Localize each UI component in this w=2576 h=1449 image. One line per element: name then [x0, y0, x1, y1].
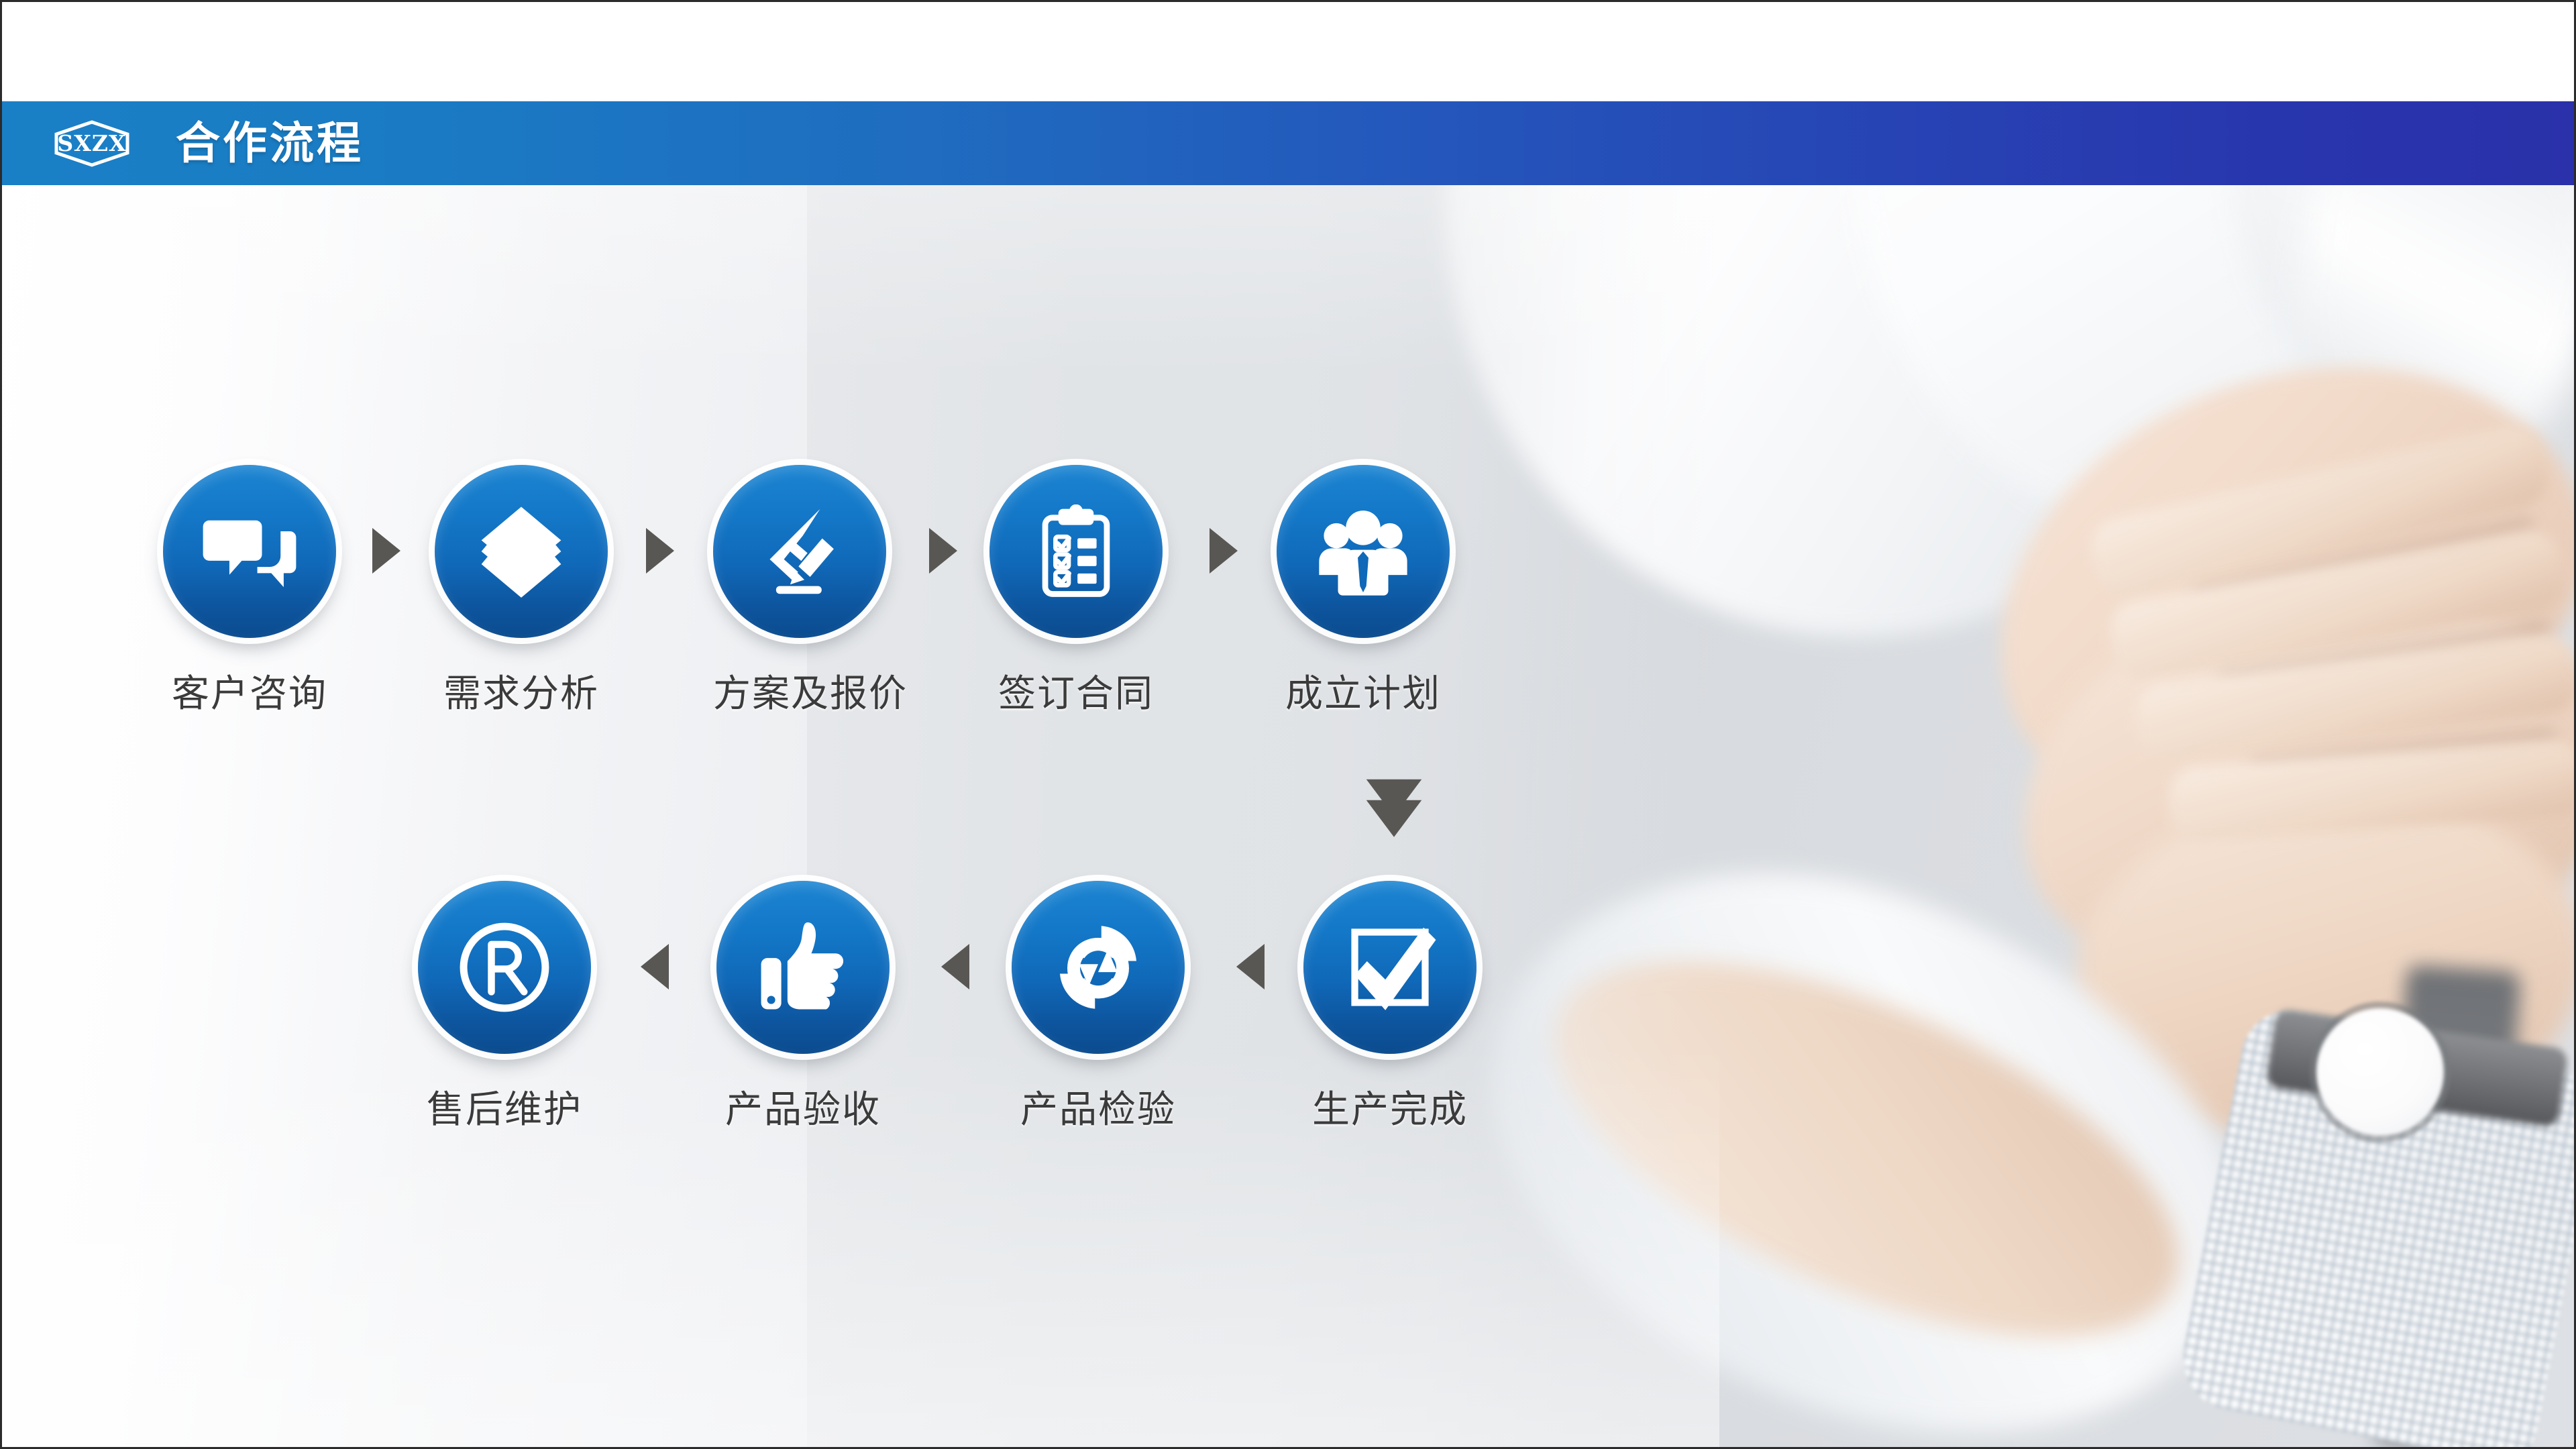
triangle-right-icon-4 [1210, 528, 1238, 574]
flow-node-8-label: 产品验收 [716, 1079, 890, 1134]
triangle-left-icon-3 [1236, 944, 1265, 989]
flow-node-5-bubble [1277, 465, 1450, 638]
triangle-right-icon-3 [929, 528, 957, 574]
flow-node-3[interactable]: 方案及报价 [713, 465, 886, 718]
flow-node-8-bubble [716, 881, 890, 1054]
flow-node-4[interactable]: 签订合同 [989, 465, 1163, 718]
flow-node-5[interactable]: 成立计划 [1277, 465, 1450, 718]
flow-node-2-label: 需求分析 [435, 663, 608, 718]
flow-node-7[interactable]: 产品检验 [1012, 881, 1185, 1134]
flow-node-9-bubble [418, 881, 591, 1054]
flow-node-2-bubble [435, 465, 608, 638]
flow-node-8[interactable]: 产品验收 [716, 881, 890, 1134]
team-people-icon [1313, 501, 1413, 602]
flow-node-5-label: 成立计划 [1277, 663, 1450, 718]
clipboard-checklist-icon [1029, 504, 1123, 598]
ruler-pencil-icon [749, 501, 850, 602]
flow-node-6-label: 生产完成 [1303, 1079, 1477, 1134]
triangle-right-icon-1 [372, 528, 400, 574]
double-chevron-down-icon [1357, 770, 1431, 844]
flow-node-3-label: 方案及报价 [713, 663, 886, 718]
flow-node-6[interactable]: 生产完成 [1303, 881, 1477, 1134]
flow-node-7-label: 产品检验 [1012, 1079, 1185, 1134]
triangle-right-icon-2 [646, 528, 674, 574]
flow-node-2[interactable]: 需求分析 [435, 465, 608, 718]
checkbox-checked-icon [1341, 918, 1439, 1016]
flow-node-1[interactable]: 客户咨询 [163, 465, 336, 718]
slide-canvas: SXZX 合作流程 客户咨询 [0, 0, 2576, 1449]
registered-trademark-icon [452, 915, 557, 1020]
flow-node-3-bubble [713, 465, 886, 638]
flow-node-4-label: 签订合同 [989, 663, 1163, 718]
flow-node-1-label: 客户咨询 [163, 663, 336, 718]
flow-node-9[interactable]: 售后维护 [418, 881, 591, 1134]
flow-node-4-bubble [989, 465, 1163, 638]
triangle-left-icon-2 [941, 944, 969, 989]
flow-node-9-label: 售后维护 [418, 1079, 591, 1134]
layers-stack-icon [470, 500, 572, 602]
refresh-cycle-icon [1047, 916, 1149, 1018]
thumbs-up-icon [753, 918, 853, 1017]
chat-bubbles-icon [200, 502, 299, 601]
flow-node-1-bubble [163, 465, 336, 638]
triangle-left-icon-1 [641, 944, 669, 989]
flow-node-6-bubble [1303, 881, 1477, 1054]
flow-node-7-bubble [1012, 881, 1185, 1054]
process-flow-diagram: 客户咨询 需求分析 [2, 2, 2574, 1447]
